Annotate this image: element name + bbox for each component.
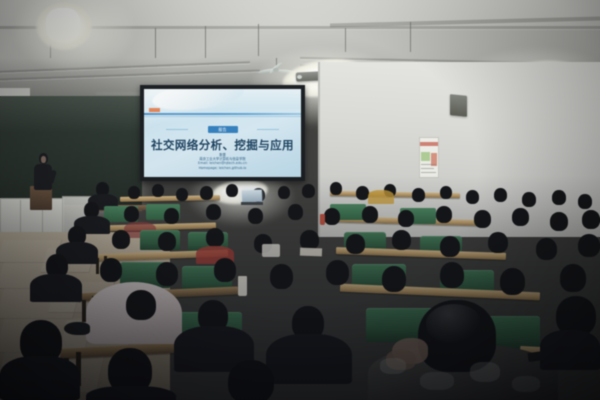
presentation-slide: 报告 社交网络分析、挖掘与应用 陈蕾 南京工业大学计算机与信息学院 Email:… xyxy=(144,89,301,177)
audience-head xyxy=(158,232,176,251)
light-drop-rod xyxy=(155,28,156,58)
poster-header-bar xyxy=(420,142,438,146)
slide-divider-rule-thin xyxy=(144,116,301,117)
lecturer-face xyxy=(41,156,46,163)
audience-head xyxy=(156,262,178,286)
audience-head xyxy=(128,186,140,199)
audience-head xyxy=(512,208,529,226)
audience-shoulders xyxy=(266,334,352,384)
poster-text-line xyxy=(421,172,436,173)
audience-head xyxy=(248,208,263,224)
audience-head xyxy=(560,264,586,292)
audience-head xyxy=(324,208,340,225)
audience-head xyxy=(176,188,188,201)
audience-shoulders xyxy=(86,386,176,400)
fan-drop-rod xyxy=(258,24,259,56)
jacket-camo-patch xyxy=(420,372,454,390)
audience-head xyxy=(302,184,315,198)
audience-head xyxy=(228,360,274,400)
audience-head xyxy=(500,268,525,295)
audience-head xyxy=(226,184,238,197)
audience-head xyxy=(126,290,156,320)
audience-shoulders xyxy=(368,190,394,204)
audience-head xyxy=(582,210,600,229)
wall-mounted-speaker xyxy=(450,94,467,117)
audience-head xyxy=(278,186,290,199)
audience-head xyxy=(550,212,568,231)
audience-head xyxy=(124,206,139,222)
light-drop-rod xyxy=(345,28,346,52)
audience-head xyxy=(382,266,406,292)
audience-head xyxy=(440,262,464,288)
audience-head xyxy=(412,188,425,202)
audience-head xyxy=(346,234,365,254)
plastic-bag xyxy=(262,244,280,257)
light-drop-rod xyxy=(205,26,206,58)
lecture-hall-photo: 报告 社交网络分析、挖掘与应用 陈蕾 南京工业大学计算机与信息学院 Email:… xyxy=(0,0,600,400)
audience-head xyxy=(494,188,507,202)
poster-text-line xyxy=(421,164,436,165)
audience-head xyxy=(474,210,491,228)
audience-head xyxy=(522,192,536,207)
audience-head xyxy=(100,258,122,282)
slide-subtitle-line: Homepage: leichen.github.io xyxy=(144,166,301,170)
audience-head xyxy=(206,204,221,220)
water-bottle xyxy=(238,276,247,296)
shoe xyxy=(64,322,90,335)
projector-lens xyxy=(297,75,302,79)
slide-badge-wing-left xyxy=(166,129,188,130)
audience-head xyxy=(440,186,452,199)
audience-head xyxy=(206,228,224,247)
jacket-camo-patch xyxy=(380,358,406,374)
audience-head xyxy=(362,206,378,223)
audience-head xyxy=(466,190,479,204)
slide-badge-wing-right xyxy=(257,129,279,130)
jacket-camo-patch xyxy=(512,376,540,392)
audience-head xyxy=(536,238,557,260)
audience-head xyxy=(152,184,164,197)
audience-head xyxy=(440,236,460,257)
poster-green-block xyxy=(421,152,430,161)
audience-head xyxy=(200,186,213,200)
audience-head xyxy=(270,264,293,289)
paper-sheet xyxy=(300,248,322,257)
audience-head xyxy=(488,232,508,253)
audience-head xyxy=(214,258,236,282)
blackboard-sheen xyxy=(0,96,142,132)
poster-text-line xyxy=(421,168,434,169)
audience-shoulders xyxy=(540,330,600,370)
audience-head xyxy=(112,230,130,249)
laptop-base xyxy=(241,202,263,205)
wall-notice-poster xyxy=(419,137,439,178)
audience-head xyxy=(578,194,592,209)
drink-bottle xyxy=(320,214,325,225)
audience-head xyxy=(326,260,349,285)
ceiling-light-core xyxy=(46,8,80,42)
wall-corner-edge xyxy=(318,62,320,237)
audience-shoulders xyxy=(0,356,80,400)
audience-head xyxy=(164,208,179,224)
light-drop-rod xyxy=(410,22,411,52)
audience-head xyxy=(436,206,452,223)
slide-badge: 报告 xyxy=(208,126,238,133)
audience-shoulders xyxy=(30,274,82,302)
jacket-camo-patch xyxy=(470,362,500,382)
ceiling-fan-hub xyxy=(273,68,279,72)
audience-head xyxy=(578,234,600,257)
laptop-screen xyxy=(242,190,262,203)
slide-subtitle: 陈蕾 南京工业大学计算机与信息学院 Email: leichen@njtech.… xyxy=(144,153,301,170)
projection-screen: 报告 社交网络分析、挖掘与应用 陈蕾 南京工业大学计算机与信息学院 Email:… xyxy=(140,85,305,181)
audience-head xyxy=(398,210,414,227)
slide-title: 社交网络分析、挖掘与应用 xyxy=(144,137,301,153)
audience-head xyxy=(330,182,342,195)
audience-head xyxy=(552,190,566,205)
audience-head xyxy=(288,204,303,220)
slide-logo-mark xyxy=(149,108,160,112)
audience-head xyxy=(392,230,411,250)
